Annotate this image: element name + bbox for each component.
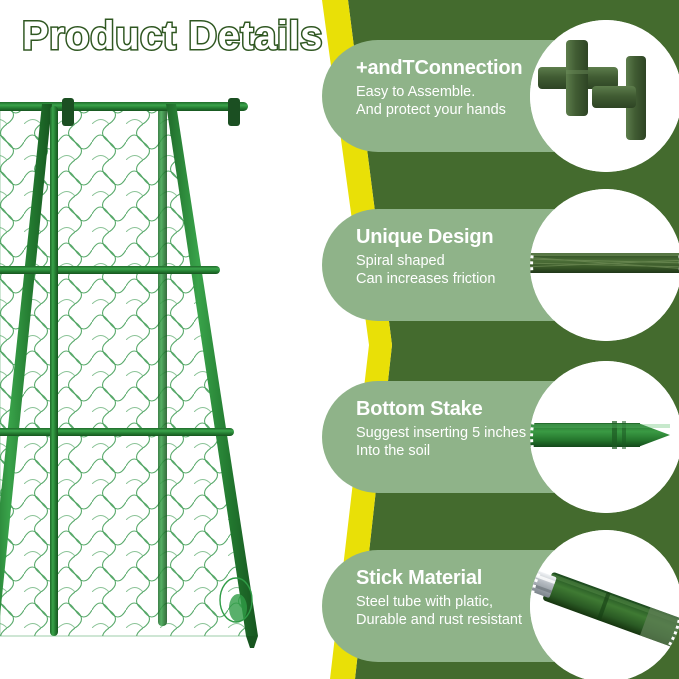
product-image-trellis (0, 88, 320, 648)
feature-subline-2: Into the soil (356, 443, 544, 461)
feature-title: Bottom Stake (356, 399, 544, 420)
plus-and-tee-connector-icon (530, 20, 679, 172)
feature-subline-1: Suggest inserting 5 inches (356, 425, 544, 443)
pointed-stake-tip-icon (530, 361, 679, 513)
product-details-infographic: Product Details (0, 0, 679, 679)
page-title: Product Details (22, 14, 323, 59)
spiral-rod (530, 253, 679, 273)
feature-subline-1: Steel tube with platic, (356, 594, 544, 612)
feature-subline-1: Spiral shaped (356, 253, 544, 271)
feature-pill: Unique Design Spiral shaped Can increase… (322, 209, 554, 321)
steel-tube-cutaway-icon (530, 530, 679, 679)
spiral-tube-icon (530, 189, 679, 341)
feature-title: Unique Design (356, 227, 544, 248)
trellis-ground-stakes (0, 636, 258, 648)
feature-pill: Bottom Stake Suggest inserting 5 inches … (322, 381, 554, 493)
feature-subline-1: Easy to Assemble. (356, 84, 544, 102)
feature-pill: Stick Material Steel tube with platic, D… (322, 550, 554, 662)
feature-title: +andTConnection (356, 58, 544, 79)
feature-subline-2: And protect your hands (356, 102, 544, 120)
feature-pill: +andTConnection Easy to Assemble. And pr… (322, 40, 554, 152)
trellis-top-bar (0, 102, 248, 111)
feature-subline-2: Durable and rust resistant (356, 612, 544, 630)
feature-subline-2: Can increases friction (356, 271, 544, 289)
feature-title: Stick Material (356, 568, 544, 589)
